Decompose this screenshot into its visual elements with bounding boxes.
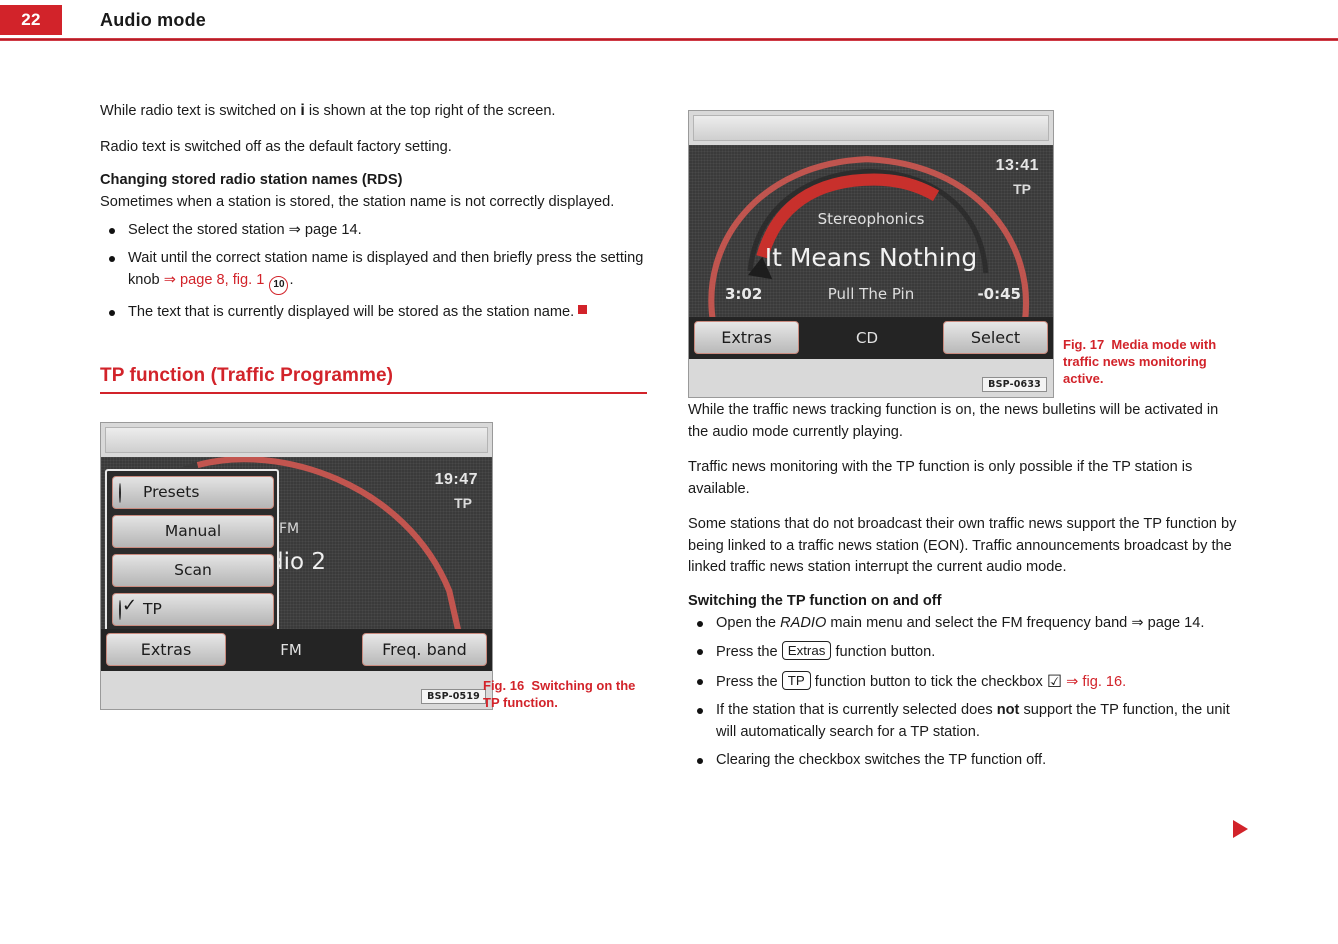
tp-heading-divider (100, 392, 647, 394)
bullet-text-b: main menu and select the FM frequency ba… (830, 615, 1204, 631)
continuation-triangle-icon (1233, 820, 1248, 838)
menu-item-label: Scan (113, 561, 273, 579)
device-top-bezel (693, 115, 1049, 141)
source-label: CD (807, 329, 927, 347)
tp-indicator: TP (1013, 181, 1031, 197)
figure-17-caption: Fig. 17 Media mode with traffic news mon… (1063, 336, 1238, 387)
figure-16-caption: Fig. 16 Switching on the TP function. (483, 677, 653, 711)
radio-screen: 19:47 TP FM dio 2 Presets Manual Scan (101, 457, 492, 671)
cross-reference[interactable]: ⇒ fig. 16. (1066, 674, 1126, 690)
bullet-text: Open the (716, 615, 776, 631)
tp-paragraph-1: While the traffic news tracking function… (688, 400, 1239, 443)
figure-label: Fig. 16 (483, 678, 524, 693)
list-item: Select the stored station ⇒ page 14. (100, 220, 647, 242)
bullet-emphasis: not (997, 702, 1020, 718)
bullet-text-b: function button to tick the checkbox (815, 674, 1043, 690)
select-button[interactable]: Select (943, 321, 1048, 354)
list-item: If the station that is currently selecte… (688, 700, 1239, 743)
freq-band-button[interactable]: Freq. band (362, 633, 487, 666)
intro-text-a: While radio text is switched on (100, 103, 296, 119)
source-label: FM (231, 641, 351, 659)
intro-text-b: is shown at the top right of the screen. (309, 103, 556, 119)
checkbox-checked-icon: ✓ (119, 601, 138, 620)
menu-item-presets[interactable]: Presets (112, 476, 274, 509)
bullet-text-end: . (289, 272, 293, 288)
right-column: 13:41 TP Stereophonics It Means Nothing … (688, 100, 1239, 782)
device-top-bezel (105, 427, 488, 453)
clock-display: 13:41 (996, 157, 1039, 175)
menu-item-scan[interactable]: Scan (112, 554, 274, 587)
rds-paragraph: Sometimes when a station is stored, the … (100, 192, 647, 214)
bullet-text: If the station that is currently selecte… (716, 702, 993, 718)
media-screen: 13:41 TP Stereophonics It Means Nothing … (689, 145, 1053, 359)
rds-bullet-list: Select the stored station ⇒ page 14. Wai… (100, 220, 647, 324)
extras-button[interactable]: Extras (106, 633, 226, 666)
list-item: Open the RADIO main menu and select the … (688, 613, 1239, 635)
tp-bullet-list: Open the RADIO main menu and select the … (688, 613, 1239, 772)
elapsed-time: 3:02 (725, 285, 762, 303)
intro-paragraph-1: While radio text is switched on i is sho… (100, 100, 647, 123)
figure-code: BSP-0519 (421, 689, 486, 704)
bullet-text-b: function button. (835, 644, 935, 660)
tp-section-heading: TP function (Traffic Programme) (100, 365, 647, 387)
track-artist: Stereophonics (689, 210, 1053, 228)
bullet-text: Press the (716, 674, 778, 690)
end-of-section-marker (578, 305, 587, 314)
rds-subheading: Changing stored radio station names (RDS… (100, 172, 647, 188)
screen-button-bar: Extras FM Freq. band (101, 629, 492, 671)
info-icon: i (300, 102, 304, 119)
list-item: Press the Extras function button. (688, 641, 1239, 664)
left-column: While radio text is switched on i is sho… (100, 100, 647, 722)
band-hint-label: FM (279, 521, 299, 537)
list-item: Clearing the checkbox switches the TP fu… (688, 750, 1239, 772)
bullet-text: Select the stored station ⇒ page 14. (128, 222, 362, 238)
menu-item-label: Manual (113, 522, 273, 540)
tp-key-label[interactable]: TP (782, 671, 811, 690)
cross-reference[interactable]: ⇒ page 8, fig. 1 (164, 272, 265, 288)
figure-17-wrap: 13:41 TP Stereophonics It Means Nothing … (688, 100, 1239, 400)
page-number: 22 (21, 10, 41, 30)
bullet-text: Clearing the checkbox switches the TP fu… (716, 752, 1046, 768)
header-divider (0, 38, 1338, 41)
checkbox-checked-icon: ☑ (1047, 672, 1062, 691)
tp-paragraph-2: Traffic news monitoring with the TP func… (688, 457, 1239, 500)
tp-indicator: TP (454, 495, 472, 511)
remaining-time: -0:45 (977, 285, 1021, 303)
extras-key-label[interactable]: Extras (782, 641, 832, 660)
figure-code: BSP-0633 (982, 377, 1047, 392)
radio-display-figure-16: 19:47 TP FM dio 2 Presets Manual Scan (100, 422, 493, 710)
intro-paragraph-2: Radio text is switched off as the defaul… (100, 137, 647, 159)
bullet-text: Press the (716, 644, 778, 660)
tp-section-heading-wrap: TP function (Traffic Programme) (100, 365, 647, 394)
figure-label: Fig. 17 (1063, 337, 1104, 352)
radio-menu-name: RADIO (780, 615, 826, 631)
chapter-title: Audio mode (100, 10, 206, 31)
list-item: Wait until the correct station name is d… (100, 248, 647, 295)
bullet-text: The text that is currently displayed wil… (128, 304, 574, 320)
tp-paragraph-3: Some stations that do not broadcast thei… (688, 514, 1239, 579)
screen-button-bar: Extras CD Select (689, 317, 1053, 359)
list-item: The text that is currently displayed wil… (100, 302, 647, 324)
extras-button[interactable]: Extras (694, 321, 799, 354)
menu-item-tp[interactable]: ✓ TP (112, 593, 274, 626)
page-number-block: 22 (0, 5, 62, 35)
extras-menu-panel: Presets Manual Scan ✓ TP (105, 469, 279, 634)
list-item: Press the TP function button to tick the… (688, 671, 1239, 694)
tp-switching-subheading: Switching the TP function on and off (688, 593, 1239, 609)
figure-16-wrap: 19:47 TP FM dio 2 Presets Manual Scan (100, 422, 647, 722)
track-title: It Means Nothing (689, 243, 1053, 272)
clock-display: 19:47 (435, 471, 478, 489)
menu-item-manual[interactable]: Manual (112, 515, 274, 548)
page-header: 22 Audio mode (0, 0, 1338, 40)
radio-unchecked-icon (119, 484, 138, 503)
media-display-figure-17: 13:41 TP Stereophonics It Means Nothing … (688, 110, 1054, 398)
callout-badge: 10 (269, 276, 288, 295)
